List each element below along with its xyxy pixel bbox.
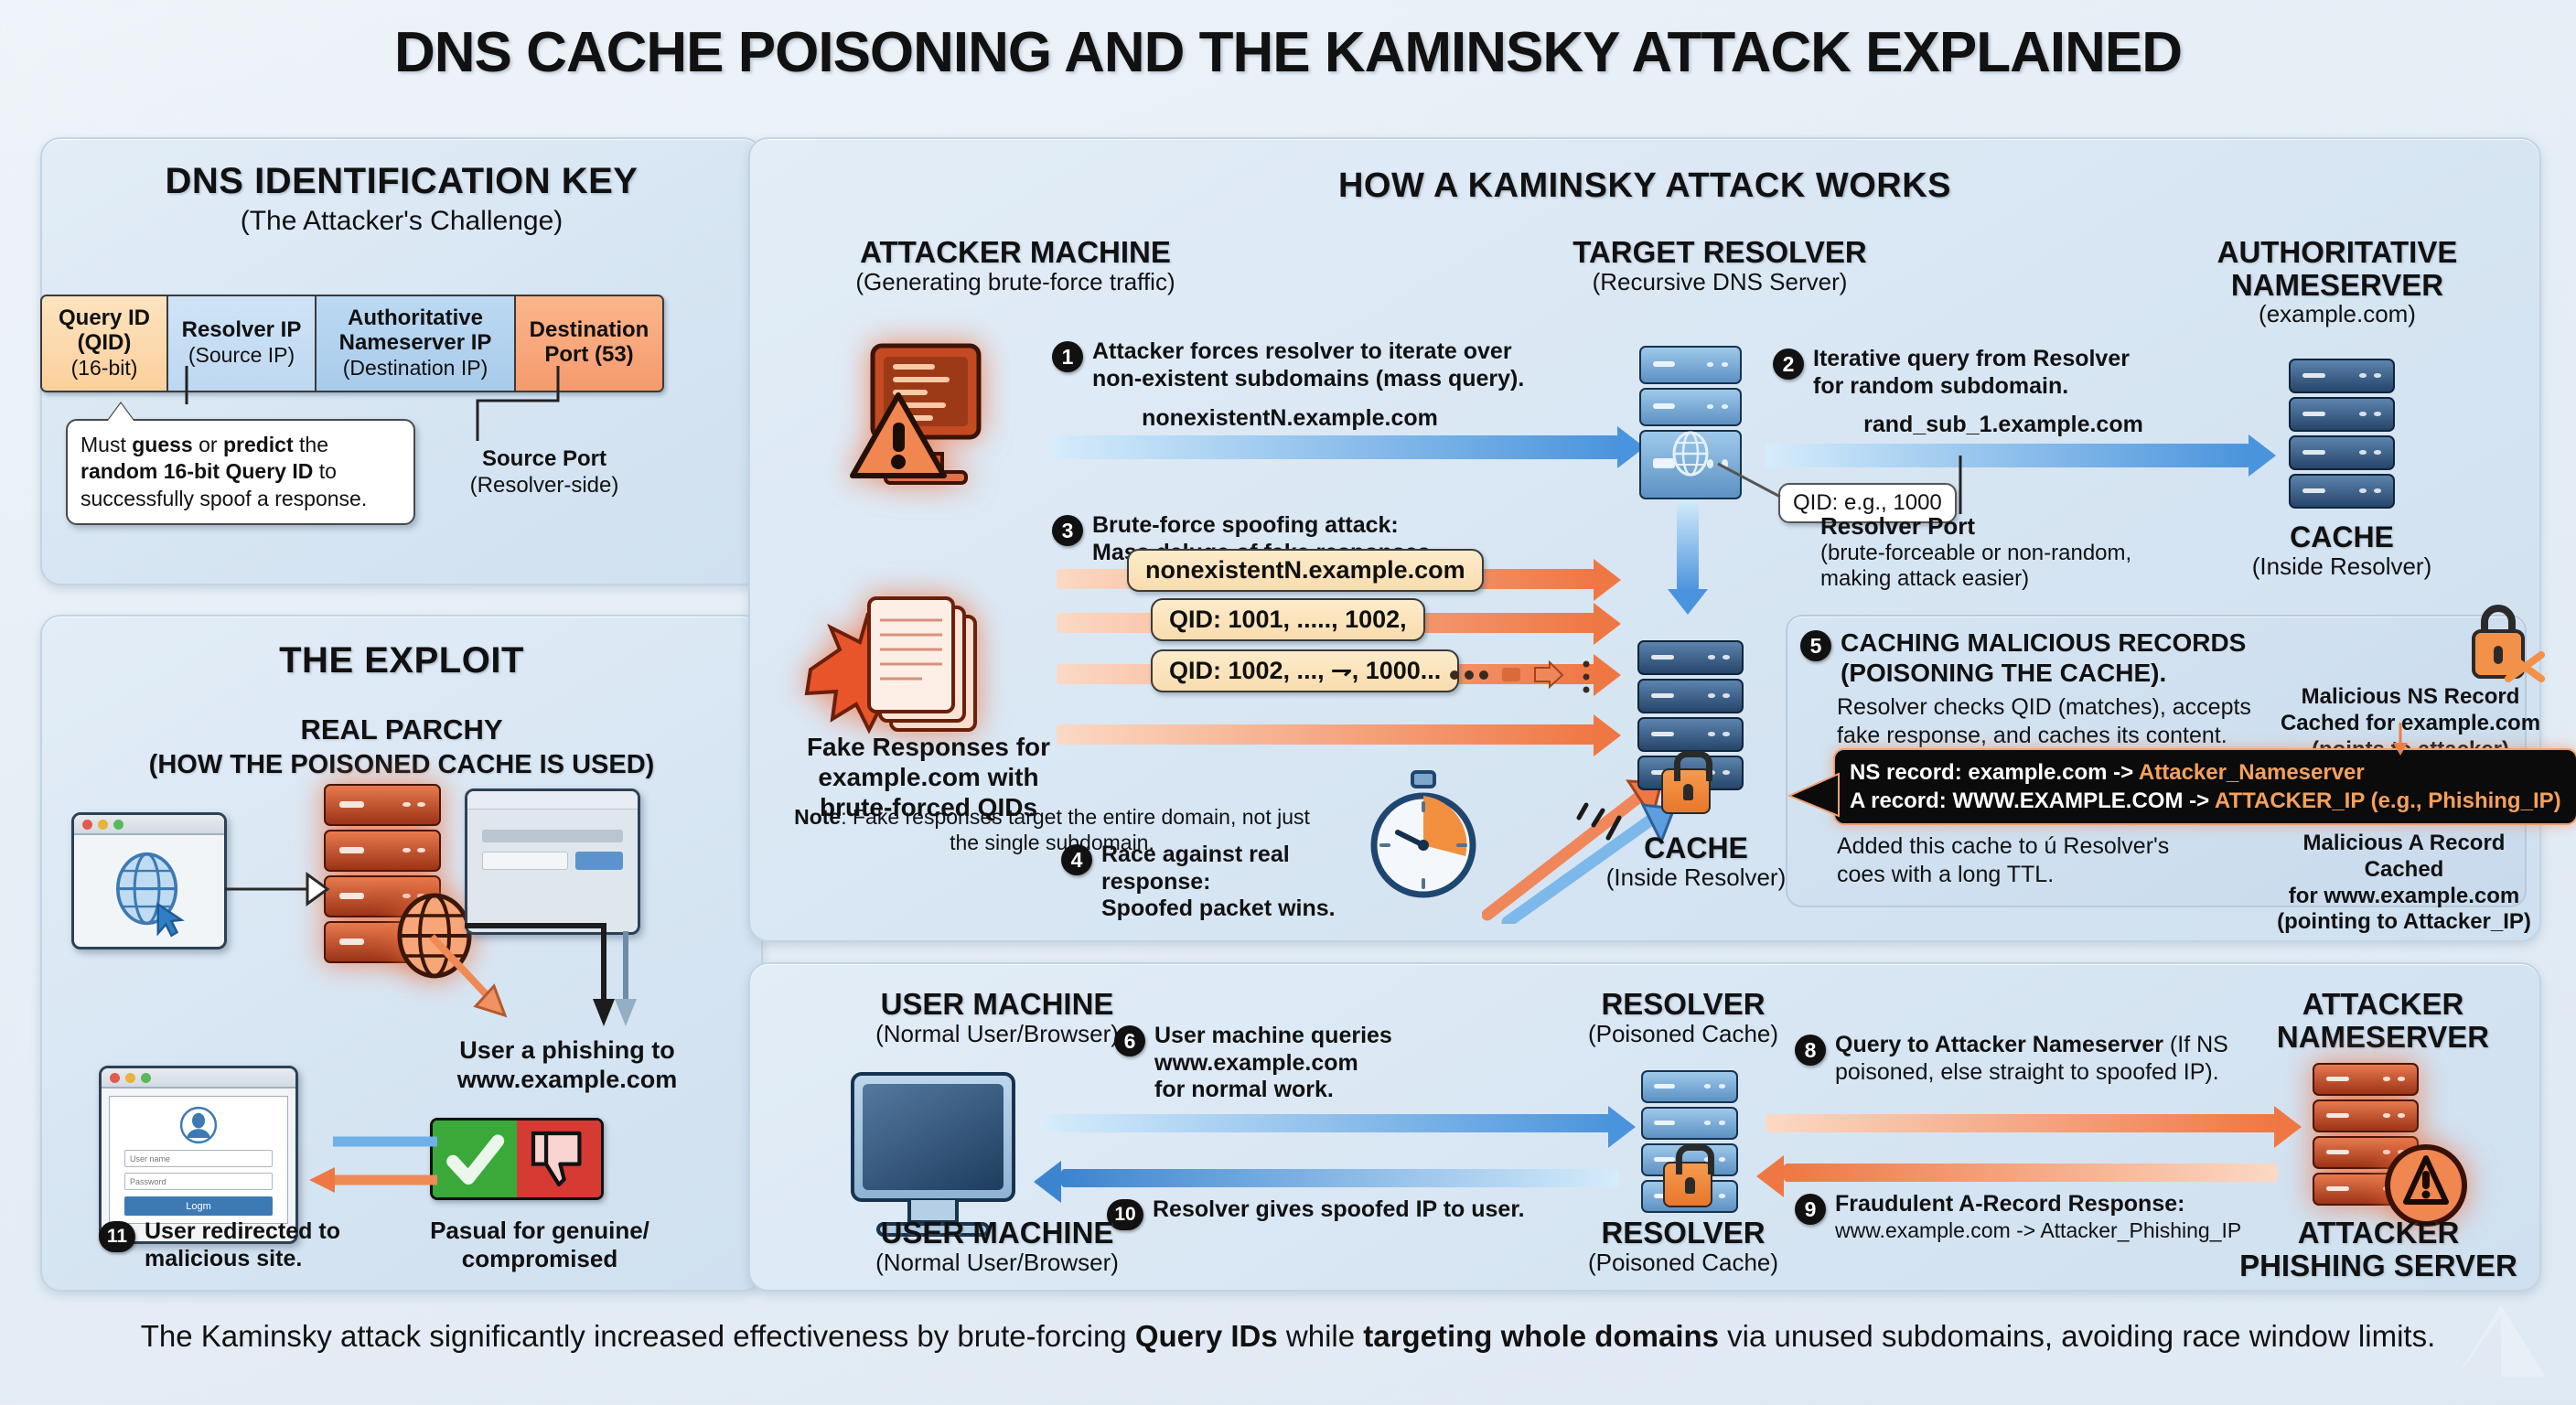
step-6-line1: User machine queries xyxy=(1154,1023,1392,1050)
verdict-label-line1: Pasual for genuine/ xyxy=(430,1217,649,1245)
callout-part-3: the xyxy=(294,433,328,456)
step-5-title: CACHING MALICIOUS RECORDS (POISONING THE… xyxy=(1841,627,2246,688)
browser-titlebar xyxy=(74,815,224,835)
spoof-box-qid-2: QID: 1002, ..., ⇁, 1000... xyxy=(1151,649,1459,692)
step-1-line1: Attacker forces resolver to iterate over xyxy=(1092,338,1524,366)
ns-cached-pointer xyxy=(2388,723,2415,759)
stopwatch-icon xyxy=(1363,768,1482,906)
callout-bold-predict: predict xyxy=(223,433,294,456)
attacker-machine-title: ATTACKER MACHINE xyxy=(750,236,1281,269)
exploit-subheading: REAL PARCHY (HOW THE POISONED CACHE IS U… xyxy=(40,713,763,780)
caption-part3: via unused subdomains, avoiding race win… xyxy=(1719,1319,2435,1353)
key-cell-auth-line1: Authoritative xyxy=(326,306,505,331)
kaminsky-panel-title: HOW A KAMINSKY ATTACK WORKS xyxy=(748,166,2541,206)
key-panel-title: DNS IDENTIFICATION KEY xyxy=(40,161,763,202)
step-1: 1 Attacker forces resolver to iterate ov… xyxy=(1052,338,1528,392)
key-panel-subtitle: (The Attacker's Challenge) xyxy=(40,206,763,237)
step-8-line1a: Query to Attacker Nameserver xyxy=(1835,1032,2163,1057)
key-cell-query-id-qid: (QID) xyxy=(51,331,157,356)
step-5-body: Resolver checks QID (matches), accepts f… xyxy=(1837,693,2313,749)
key-cell-dest-line1: Destination xyxy=(525,318,653,343)
step-5-title1: CACHING MALICIOUS RECORDS xyxy=(1841,627,2246,658)
spoof-ellipsis-icons xyxy=(1447,657,1594,693)
note-rest: : Fake responses target the entire domai… xyxy=(841,805,1310,829)
step-8-text: Query to Attacker Nameserver (If NS pois… xyxy=(1835,1032,2228,1086)
attacker-b-title2: PHISHING SERVER xyxy=(2205,1249,2552,1282)
exploit-heading: THE EXPLOIT xyxy=(40,640,763,681)
step-11-line2: malicious site. xyxy=(145,1246,340,1273)
resolver-port-note2: making attack easier) xyxy=(1820,566,2205,592)
resolver-cache-label: CACHE (Inside Resolver) xyxy=(1595,832,1797,891)
auth-cache-title: CACHE xyxy=(2232,521,2452,553)
step-9-line1: Fraudulent A-Record Response: xyxy=(1835,1191,2241,1218)
records-box-pointer xyxy=(1786,768,1842,823)
source-port-label: Source Port (Resolver-side) xyxy=(430,446,659,499)
attacker-machine-sub: (Generating brute-force traffic) xyxy=(750,269,1281,295)
step-5-body2: fake response, and caches its content. xyxy=(1837,722,2313,750)
step-3-line1: Brute-force spoofing attack: xyxy=(1092,512,1437,540)
a-cached-label: Malicious A Record Cached for www.exampl… xyxy=(2267,831,2541,936)
phishing-page-card xyxy=(465,788,640,935)
exploit-panel-subtitle2: (HOW THE POISONED CACHE IS USED) xyxy=(40,750,763,780)
arrow-resolver-to-attacker-head xyxy=(2274,1106,2302,1148)
authoritative-nameserver-rack xyxy=(2289,359,2395,509)
callout-bold-random-qid: random 16-bit Query ID xyxy=(80,459,313,483)
avatar xyxy=(179,1106,218,1144)
auth-ns-title2: NAMESERVER xyxy=(2141,269,2534,302)
spoof-box-qid-1: QID: 1001, ....., 1002, xyxy=(1151,598,1425,641)
step-5-body1: Resolver checks QID (matches), accepts xyxy=(1837,693,2313,722)
auth-cache-sub: (Inside Resolver) xyxy=(2232,553,2452,580)
resolver-port-tick xyxy=(1952,456,1970,516)
exploit-redirect-arrows xyxy=(410,915,666,1034)
bottom-resolver-b-sub: (Poisoned Cache) xyxy=(1482,1249,1884,1276)
resolver-globe-icon xyxy=(1665,428,1716,479)
target-resolver-title: TARGET RESOLVER xyxy=(1464,236,1976,269)
a-cached-line1: Malicious A Record Cached xyxy=(2267,831,2541,884)
thumbs-down-icon xyxy=(517,1121,601,1197)
step-1-domain: nonexistentN.example.com xyxy=(1061,405,1519,432)
caption-bold-targeting: targeting whole domains xyxy=(1363,1319,1719,1353)
step-9-text: Fraudulent A-Record Response: www.exampl… xyxy=(1835,1191,2241,1243)
auth-cache-label: CACHE (Inside Resolver) xyxy=(2232,521,2452,580)
step-6-text: User machine queries www.example.com for… xyxy=(1154,1023,1392,1104)
a-cached-line3: (pointing to Attacker_IP) xyxy=(2267,909,2541,936)
arrow-resolver-to-auth-head xyxy=(2249,434,2276,477)
resolver-port-label: Resolver Port (brute-forceable or non-ra… xyxy=(1820,512,2205,591)
step-4: 4 Race against real response: Spoofed pa… xyxy=(1061,842,1363,923)
step-2-line2: for random subdomain. xyxy=(1813,373,2130,401)
verdict-label-line2: compromised xyxy=(430,1245,649,1273)
close-icon[interactable] xyxy=(110,1073,120,1083)
a-cached-line2: for www.example.com xyxy=(2267,884,2541,910)
caption-bold-query-ids: Query IDs xyxy=(1135,1319,1278,1353)
step-2: 2 Iterative query from Resolver for rand… xyxy=(1773,346,2249,400)
username-field[interactable] xyxy=(124,1150,273,1167)
step-5-footer: Added this cache to ú Resolver's coes wi… xyxy=(1837,832,2267,888)
arrow-user-to-resolver xyxy=(1045,1114,1612,1132)
query-id-callout: Must guess or predict the random 16-bit … xyxy=(66,419,415,525)
genuine-compromised-badge xyxy=(430,1118,604,1200)
page-title: DNS CACHE POISONING AND THE KAMINSKY ATT… xyxy=(0,20,2576,85)
bottom-resolver-b-title: RESOLVER xyxy=(1482,1217,1884,1249)
arrow-resolver-to-user xyxy=(1061,1169,1619,1187)
resolver-port-title: Resolver Port xyxy=(1820,512,2205,541)
phishing-login-window[interactable]: Logm xyxy=(99,1066,298,1244)
arrow-attacker-to-resolver-bottom xyxy=(1784,1164,2278,1182)
key-cell-dest-line2: Port (53) xyxy=(525,343,653,368)
step-6-number: 6 xyxy=(1114,1025,1145,1056)
step-8: 8 Query to Attacker Nameserver (If NS po… xyxy=(1795,1032,2380,1086)
fake-resp-line2: example.com with xyxy=(778,762,1079,792)
step-4-text: Race against real response: Spoofed pack… xyxy=(1101,842,1336,923)
step-11-line1: User redirected to xyxy=(145,1218,340,1246)
maximize-icon[interactable] xyxy=(113,820,123,830)
close-icon[interactable] xyxy=(82,820,92,830)
callout-part-1: Must xyxy=(80,433,132,456)
step-8-line2: poisoned, else straight to spoofed IP). xyxy=(1835,1059,2228,1087)
step-9-line2: www.example.com -> Attacker_Phishing_IP xyxy=(1835,1218,2241,1243)
attacker-ns-title1: ATTACKER xyxy=(2223,988,2543,1021)
step-3-number: 3 xyxy=(1052,515,1083,546)
auth-ns-title1: AUTHORITATIVE xyxy=(2141,236,2534,269)
password-field[interactable] xyxy=(124,1173,273,1190)
spoof-arrow-4-head xyxy=(1594,714,1621,756)
maximize-icon[interactable] xyxy=(141,1073,151,1083)
key-cell-auth-line2: Nameserver IP xyxy=(326,331,505,356)
spoof-arrow-2-head xyxy=(1594,603,1621,645)
spoof-arrow-1-head xyxy=(1594,559,1621,601)
node-label-authoritative: AUTHORITATIVE NAMESERVER (example.com) xyxy=(2141,236,2534,327)
verdict-return-arrow xyxy=(302,1127,439,1200)
phishing-label: User a phishing to www.example.com xyxy=(430,1035,704,1095)
caption-part1: The Kaminsky attack significantly increa… xyxy=(141,1319,1135,1353)
phishing-label-line2: www.example.com xyxy=(430,1065,704,1094)
step-1-number: 1 xyxy=(1052,341,1083,372)
step-1-line2: non-existent subdomains (mass query). xyxy=(1092,366,1524,393)
step-4-line2: response: xyxy=(1101,869,1336,896)
arrow-user-to-resolver-head xyxy=(1608,1106,1636,1148)
ns-cached-line1: Malicious NS Record xyxy=(2278,684,2543,711)
step-8-line1b: (If NS xyxy=(2163,1032,2228,1057)
key-cell-resolver-ip-title: Resolver IP xyxy=(177,318,306,343)
kaminsky-heading: HOW A KAMINSKY ATTACK WORKS xyxy=(748,166,2541,206)
phishing-label-line1: User a phishing to xyxy=(430,1035,704,1065)
broken-lock-icon xyxy=(2457,600,2545,688)
step-6: 6 User machine queries www.example.com f… xyxy=(1114,1023,1462,1104)
globe-icon xyxy=(74,835,224,947)
arrow-resolver-down xyxy=(1677,499,1699,591)
fake-resp-line1: Fake Responses for xyxy=(778,732,1079,762)
check-icon xyxy=(433,1121,517,1197)
node-label-attacker-bottom: ATTACKER PHISHING SERVER xyxy=(2205,1217,2552,1282)
step-4-line1: Race against real xyxy=(1101,842,1336,869)
step-2-text: Iterative query from Resolver for random… xyxy=(1813,346,2130,400)
arrow-attacker-to-resolver-bottom-head xyxy=(1756,1155,1784,1197)
user-monitor-icon xyxy=(851,1072,1015,1202)
step-10-text: Resolver gives spoofed IP to user. xyxy=(1153,1196,1525,1224)
step-11-number: 11 xyxy=(99,1221,135,1252)
callout-bold-guess: guess xyxy=(132,433,192,456)
arrow-resolver-to-auth xyxy=(1766,444,2250,467)
step-8-number: 8 xyxy=(1795,1035,1826,1066)
footer-caption: The Kaminsky attack significantly increa… xyxy=(0,1317,2576,1357)
callout-part-2: or xyxy=(193,433,223,456)
node-label-resolver: TARGET RESOLVER (Recursive DNS Server) xyxy=(1464,236,1976,295)
step-6-line3: for normal work. xyxy=(1154,1077,1392,1104)
exploit-panel-subtitle: REAL PARCHY xyxy=(40,713,763,746)
step-5-number: 5 xyxy=(1800,630,1831,661)
ns-record-value: Attacker_Nameserver xyxy=(2139,760,2365,785)
key-cell-resolver-ip-sub: (Source IP) xyxy=(177,343,306,367)
source-port-sub: (Resolver-side) xyxy=(430,473,659,499)
spoof-arrow-4 xyxy=(1057,724,1596,745)
attacker-b-title1: ATTACKER xyxy=(2205,1217,2552,1249)
minimize-icon[interactable] xyxy=(98,820,108,830)
arrow-resolver-to-attacker xyxy=(1766,1114,2278,1132)
login-button[interactable]: Logm xyxy=(124,1196,273,1216)
step-5-footer2: coes with a long TTL. xyxy=(1837,861,2267,889)
auth-ns-sub: (example.com) xyxy=(2141,301,2534,327)
user-machine-b-sub: (Normal User/Browser) xyxy=(787,1249,1207,1276)
malicious-records-box: NS record: example.com -> Attacker_Names… xyxy=(1833,748,2576,825)
a-record-prefix: A record: WWW.EXAMPLE.COM -> xyxy=(1850,788,2209,813)
source-port-title: Source Port xyxy=(430,446,659,473)
step-4-number: 4 xyxy=(1061,844,1092,875)
step-2-domain: rand_sub_1.example.com xyxy=(1766,412,2241,438)
key-panel-heading: DNS IDENTIFICATION KEY (The Attacker's C… xyxy=(40,161,763,237)
poisoned-resolver-lock-icon xyxy=(1663,1162,1712,1207)
cache-lock-icon xyxy=(1661,768,1711,814)
step-11-text: User redirected to malicious site. xyxy=(145,1218,340,1272)
caption-part2: while xyxy=(1278,1319,1364,1353)
exploit-panel-title: THE EXPLOIT xyxy=(40,640,763,681)
node-label-user-bottom: USER MACHINE (Normal User/Browser) xyxy=(787,1217,1207,1276)
step-4-line3: Spoofed packet wins. xyxy=(1101,896,1336,923)
node-label-resolver-bottom: RESOLVER (Poisoned Cache) xyxy=(1482,1217,1884,1276)
step-1-text: Attacker forces resolver to iterate over… xyxy=(1092,338,1524,392)
arrow-resolver-down-head xyxy=(1668,589,1708,615)
step-5-footer1: Added this cache to ú Resolver's xyxy=(1837,832,2267,861)
user-machine-b-title: USER MACHINE xyxy=(787,1217,1207,1249)
login-window-titlebar xyxy=(102,1068,295,1089)
step-6-line2: www.example.com xyxy=(1154,1050,1392,1078)
target-resolver-sub: (Recursive DNS Server) xyxy=(1464,269,1976,295)
ns-record-prefix: NS record: example.com -> xyxy=(1850,760,2133,785)
arrow-resolver-to-user-head xyxy=(1034,1161,1061,1203)
resolver-port-note1: (brute-forceable or non-random, xyxy=(1820,541,2205,566)
browser-to-server-connector xyxy=(220,805,338,970)
a-record-value: ATTACKER_IP (e.g., Phishing_IP) xyxy=(2215,788,2561,813)
note-bold: Note xyxy=(794,805,841,829)
spoof-box-domain: nonexistentN.example.com xyxy=(1127,549,1484,592)
browser-window-globe[interactable] xyxy=(71,812,227,949)
attacker-machine-icon xyxy=(842,338,1006,501)
arrow-attacker-to-resolver xyxy=(1052,435,1619,459)
callout-pointer xyxy=(108,403,134,421)
spoof-arrow-3-head xyxy=(1594,654,1621,696)
step-5: 5 CACHING MALICIOUS RECORDS (POISONING T… xyxy=(1800,627,2313,688)
resolver-cache-title: CACHE xyxy=(1595,832,1797,864)
step-11: 11 User redirected to malicious site. xyxy=(99,1218,340,1272)
qid-bubble-pointer xyxy=(1716,462,1789,517)
resolver-cache-sub: (Inside Resolver) xyxy=(1595,864,1797,891)
bottom-resolver-title: RESOLVER xyxy=(1482,988,1884,1021)
node-label-attacker: ATTACKER MACHINE (Generating brute-force… xyxy=(750,236,1281,295)
minimize-icon[interactable] xyxy=(125,1073,135,1083)
step-2-number: 2 xyxy=(1773,349,1804,380)
user-machine-title: USER MACHINE xyxy=(787,988,1207,1021)
step-2-line1: Iterative query from Resolver xyxy=(1813,346,2130,373)
key-cell-query-id-title: Query ID xyxy=(51,306,157,331)
step-5-title2: (POISONING THE CACHE). xyxy=(1841,658,2246,688)
verdict-label: Pasual for genuine/ compromised xyxy=(430,1217,649,1273)
